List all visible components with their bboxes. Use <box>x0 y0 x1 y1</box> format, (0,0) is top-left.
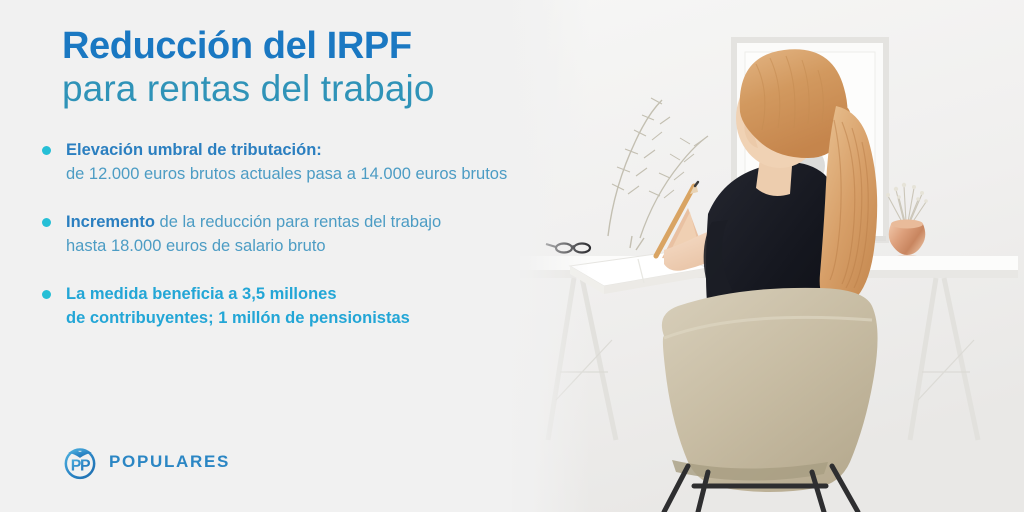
bullet-3-line-2: de contribuyentes; 1 millón de pensionis… <box>66 307 507 331</box>
bullet-1-strong: Elevación umbral de tributación: <box>66 141 322 159</box>
bullet-3-strong: La medida beneficia a 3,5 millones <box>66 285 337 303</box>
headline-block: Reducción del IRPF para rentas del traba… <box>62 26 435 109</box>
bullet-dot-icon <box>42 218 51 227</box>
page-subtitle: para rentas del trabajo <box>62 68 435 109</box>
infographic-canvas: Reducción del IRPF para rentas del traba… <box>0 0 1024 512</box>
pp-logo-icon: PP <box>60 442 100 482</box>
bullet-2-line-1: Incremento de la reducción para rentas d… <box>66 211 507 235</box>
bullet-1-line-2: de 12.000 euros brutos actuales pasa a 1… <box>66 163 507 187</box>
bullet-2-line-2: hasta 18.000 euros de salario bruto <box>66 235 507 259</box>
bullet-dot-icon <box>42 146 51 155</box>
bullet-1-detail: de 12.000 euros brutos actuales pasa a 1… <box>66 165 507 183</box>
bullet-2-detail: hasta 18.000 euros de salario bruto <box>66 237 326 255</box>
bullet-1-line-1: Elevación umbral de tributación: <box>66 139 507 163</box>
list-item: Incremento de la reducción para rentas d… <box>40 211 507 259</box>
bullet-list: Elevación umbral de tributación: de 12.0… <box>40 139 507 355</box>
pp-logo: PP POPULARES <box>60 442 230 482</box>
bullet-3-line-1: La medida beneficia a 3,5 millones <box>66 283 507 307</box>
pp-logo-letters: PP <box>71 457 91 474</box>
list-item: La medida beneficia a 3,5 millones de co… <box>40 283 507 331</box>
list-item: Elevación umbral de tributación: de 12.0… <box>40 139 507 187</box>
photo-woman-at-desk <box>512 0 1024 512</box>
bullet-dot-icon <box>42 290 51 299</box>
bullet-2-rest: de la reducción para rentas del trabajo <box>155 213 441 231</box>
page-title: Reducción del IRPF <box>62 26 435 67</box>
pp-wordmark: POPULARES <box>109 452 230 472</box>
bullet-2-strong: Incremento <box>66 213 155 231</box>
bullet-3-detail: de contribuyentes; 1 millón de pensionis… <box>66 309 410 327</box>
